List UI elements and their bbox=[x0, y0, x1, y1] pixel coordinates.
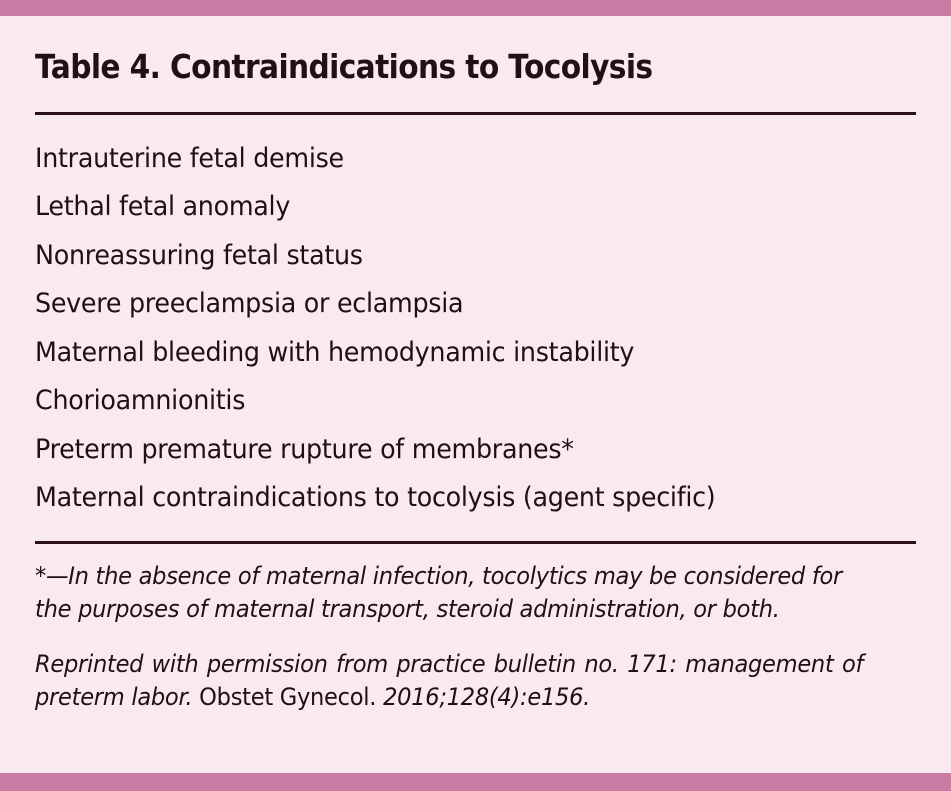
contraindication-list: Intrauterine fetal demise Lethal fetal a… bbox=[35, 115, 916, 523]
notes-section: *—In the absence of maternal infection, … bbox=[35, 544, 916, 714]
list-item: Preterm premature rupture of membranes* bbox=[35, 426, 863, 475]
list-item: Maternal contraindications to tocolysis … bbox=[35, 474, 863, 523]
source-citation: Reprinted with permission from practice … bbox=[35, 648, 863, 714]
top-accent-band bbox=[0, 0, 951, 16]
table-content: Table 4. Contraindications to Tocolysis … bbox=[0, 16, 951, 773]
list-item: Severe preeclampsia or eclampsia bbox=[35, 280, 863, 329]
list-item: Nonreassuring fetal status bbox=[35, 232, 863, 281]
list-item: Chorioamnionitis bbox=[35, 377, 863, 426]
source-citation-detail: 2016;128(4):e156. bbox=[383, 683, 590, 711]
bottom-accent-band bbox=[0, 773, 951, 791]
table-card: Table 4. Contraindications to Tocolysis … bbox=[0, 0, 951, 791]
list-item: Maternal bleeding with hemodynamic insta… bbox=[35, 329, 863, 378]
source-journal: Obstet Gynecol. bbox=[199, 683, 376, 711]
list-item: Intrauterine fetal demise bbox=[35, 135, 863, 184]
list-item: Lethal fetal anomaly bbox=[35, 183, 863, 232]
page-title: Table 4. Contraindications to Tocolysis bbox=[35, 16, 828, 86]
footnote-text: *—In the absence of maternal infection, … bbox=[35, 560, 863, 626]
